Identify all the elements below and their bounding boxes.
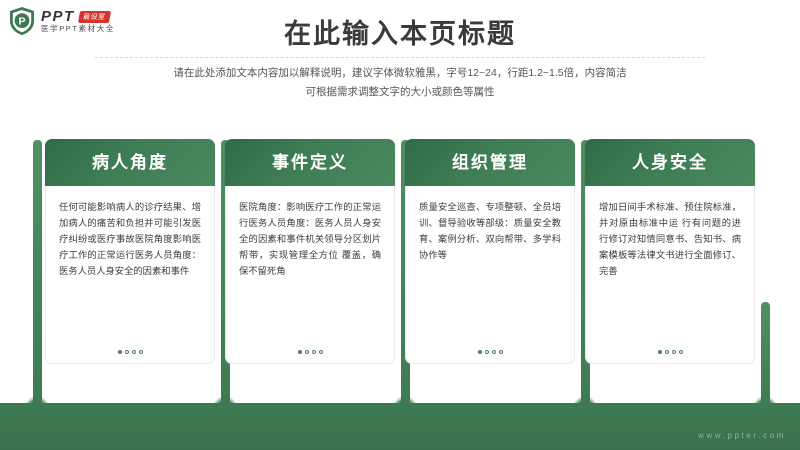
decor-pillar-5	[761, 302, 770, 410]
card-dot-indicator[interactable]	[226, 350, 394, 354]
card-title: 病人角度	[92, 154, 168, 171]
card-text: 任何可能影响病人的诊疗结果、增加病人的痛苦和负担并可能引发医疗纠纷或医疗事故医院…	[59, 200, 201, 280]
card-body: 质量安全巡查、专项整顿、全员培训、督导验收等部级：质量安全教育、案例分析、双向帮…	[405, 186, 575, 364]
dot[interactable]	[319, 350, 323, 354]
dot[interactable]	[665, 350, 669, 354]
page-title: 在此输入本页标题	[0, 18, 800, 50]
card-text: 医院角度：影响医疗工作的正常运行医务人员角度：医务人员人身安全的因素和事件机关领…	[239, 200, 381, 280]
card-item[interactable]: 事件定义 医院角度：影响医疗工作的正常运行医务人员角度：医务人员人身安全的因素和…	[225, 139, 395, 364]
card-title: 组织管理	[452, 154, 528, 171]
dot-active[interactable]	[658, 350, 662, 354]
page-subtitle-line-1: 请在此处添加文本内容加以解释说明，建议字体微软雅黑，字号12~24，行距1.2~…	[60, 64, 740, 83]
card-header: 组织管理	[405, 139, 575, 186]
card-text: 增加日间手术标准、预住院标准，并对原由标准中运 行有问题的进行修订对知情同意书、…	[599, 200, 741, 280]
card-dot-indicator[interactable]	[406, 350, 574, 354]
decor-pillar-1	[33, 140, 42, 410]
dot-active[interactable]	[478, 350, 482, 354]
title-divider	[95, 57, 705, 59]
dot[interactable]	[139, 350, 143, 354]
card-header: 人身安全	[585, 139, 755, 186]
card-header: 事件定义	[225, 139, 395, 186]
dot[interactable]	[499, 350, 503, 354]
card-item[interactable]: 人身安全 增加日间手术标准、预住院标准，并对原由标准中运 行有问题的进行修订对知…	[585, 139, 755, 364]
dot[interactable]	[305, 350, 309, 354]
bottom-green-band	[0, 403, 800, 450]
dot[interactable]	[679, 350, 683, 354]
card-dot-indicator[interactable]	[46, 350, 214, 354]
card-item[interactable]: 组织管理 质量安全巡查、专项整顿、全员培训、督导验收等部级：质量安全教育、案例分…	[405, 139, 575, 364]
dot[interactable]	[312, 350, 316, 354]
footer-watermark: www.ppter.com	[698, 432, 786, 440]
dot-active[interactable]	[298, 350, 302, 354]
card-dot-indicator[interactable]	[586, 350, 754, 354]
card-item[interactable]: 病人角度 任何可能影响病人的诊疗结果、增加病人的痛苦和负担并可能引发医疗纠纷或医…	[45, 139, 215, 364]
page-subtitle-line-2: 可根据需求调整文字的大小或颜色等属性	[60, 83, 740, 102]
card-body: 增加日间手术标准、预住院标准，并对原由标准中运 行有问题的进行修订对知情同意书、…	[585, 186, 755, 364]
card-body: 医院角度：影响医疗工作的正常运行医务人员角度：医务人员人身安全的因素和事件机关领…	[225, 186, 395, 364]
card-title: 事件定义	[272, 154, 348, 171]
card-text: 质量安全巡查、专项整顿、全员培训、督导验收等部级：质量安全教育、案例分析、双向帮…	[419, 200, 561, 264]
card-header: 病人角度	[45, 139, 215, 186]
page-subtitle: 请在此处添加文本内容加以解释说明，建议字体微软雅黑，字号12~24，行距1.2~…	[60, 64, 740, 103]
dot[interactable]	[132, 350, 136, 354]
slide-canvas: P PPT 最设室 医学PPT素材大全 在此输入本页标题 请在此处添加文本内容加…	[0, 0, 800, 450]
dot[interactable]	[672, 350, 676, 354]
dot[interactable]	[492, 350, 496, 354]
dot[interactable]	[125, 350, 129, 354]
dot[interactable]	[485, 350, 489, 354]
card-body: 任何可能影响病人的诊疗结果、增加病人的痛苦和负担并可能引发医疗纠纷或医疗事故医院…	[45, 186, 215, 364]
card-title: 人身安全	[632, 154, 708, 171]
dot-active[interactable]	[118, 350, 122, 354]
card-row: 病人角度 任何可能影响病人的诊疗结果、增加病人的痛苦和负担并可能引发医疗纠纷或医…	[45, 139, 757, 364]
